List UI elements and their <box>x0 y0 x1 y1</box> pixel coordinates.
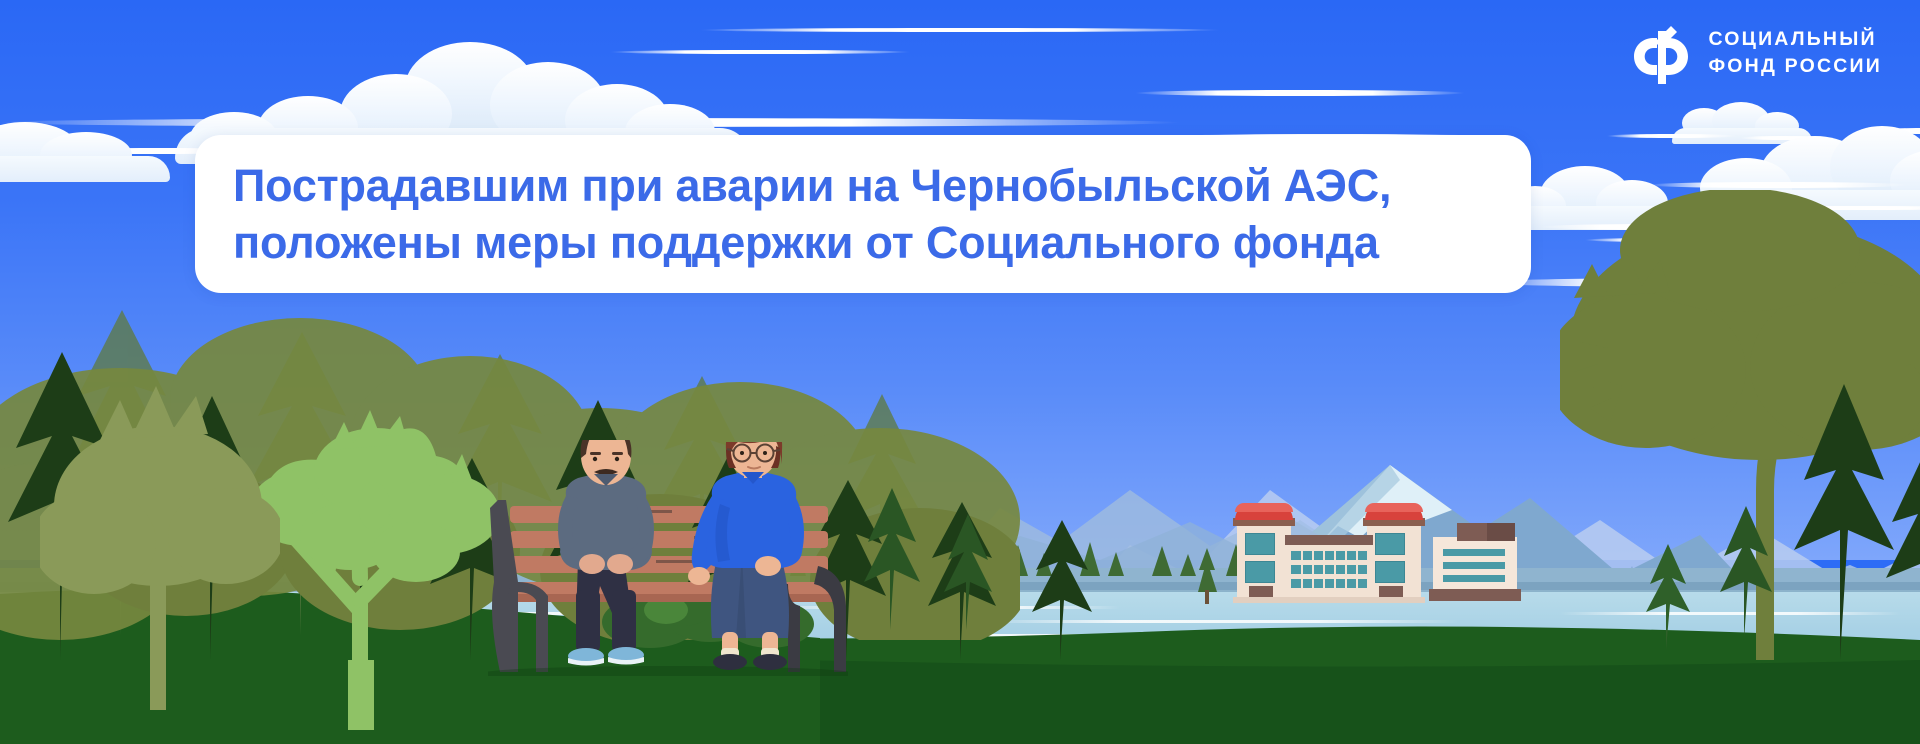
banner-root: Пострадавшим при аварии на Чернобыльской… <box>0 0 1920 744</box>
headline-card: Пострадавшим при аварии на Чернобыльской… <box>195 135 1531 293</box>
bench-side-firs <box>850 430 1030 630</box>
building-side-tree <box>1196 548 1218 604</box>
foreground-tree-left-2 <box>40 330 280 710</box>
sfr-logo[interactable]: СОЦИАЛЬНЫЙ ФОНД РОССИИ <box>1631 22 1882 84</box>
cloud-wisp <box>610 50 910 54</box>
sfr-monogram-icon <box>1631 22 1691 84</box>
sfr-logo-text: СОЦИАЛЬНЫЙ ФОНД РОССИИ <box>1708 28 1882 78</box>
sanatorium-building <box>1215 497 1515 602</box>
figure-elderly-woman[interactable] <box>668 442 848 672</box>
sfr-logo-line-1: СОЦИАЛЬНЫЙ <box>1708 28 1882 51</box>
mid-right-spruce-small <box>1630 500 1730 650</box>
headline-line-2: положены меры поддержки от Социального ф… <box>233 214 1495 271</box>
cloud-wisp <box>700 28 1220 32</box>
sfr-logo-line-2: ФОНД РОССИИ <box>1708 55 1882 78</box>
cloud-wisp <box>1135 90 1465 96</box>
headline-line-1: Пострадавшим при аварии на Чернобыльской… <box>233 157 1495 214</box>
